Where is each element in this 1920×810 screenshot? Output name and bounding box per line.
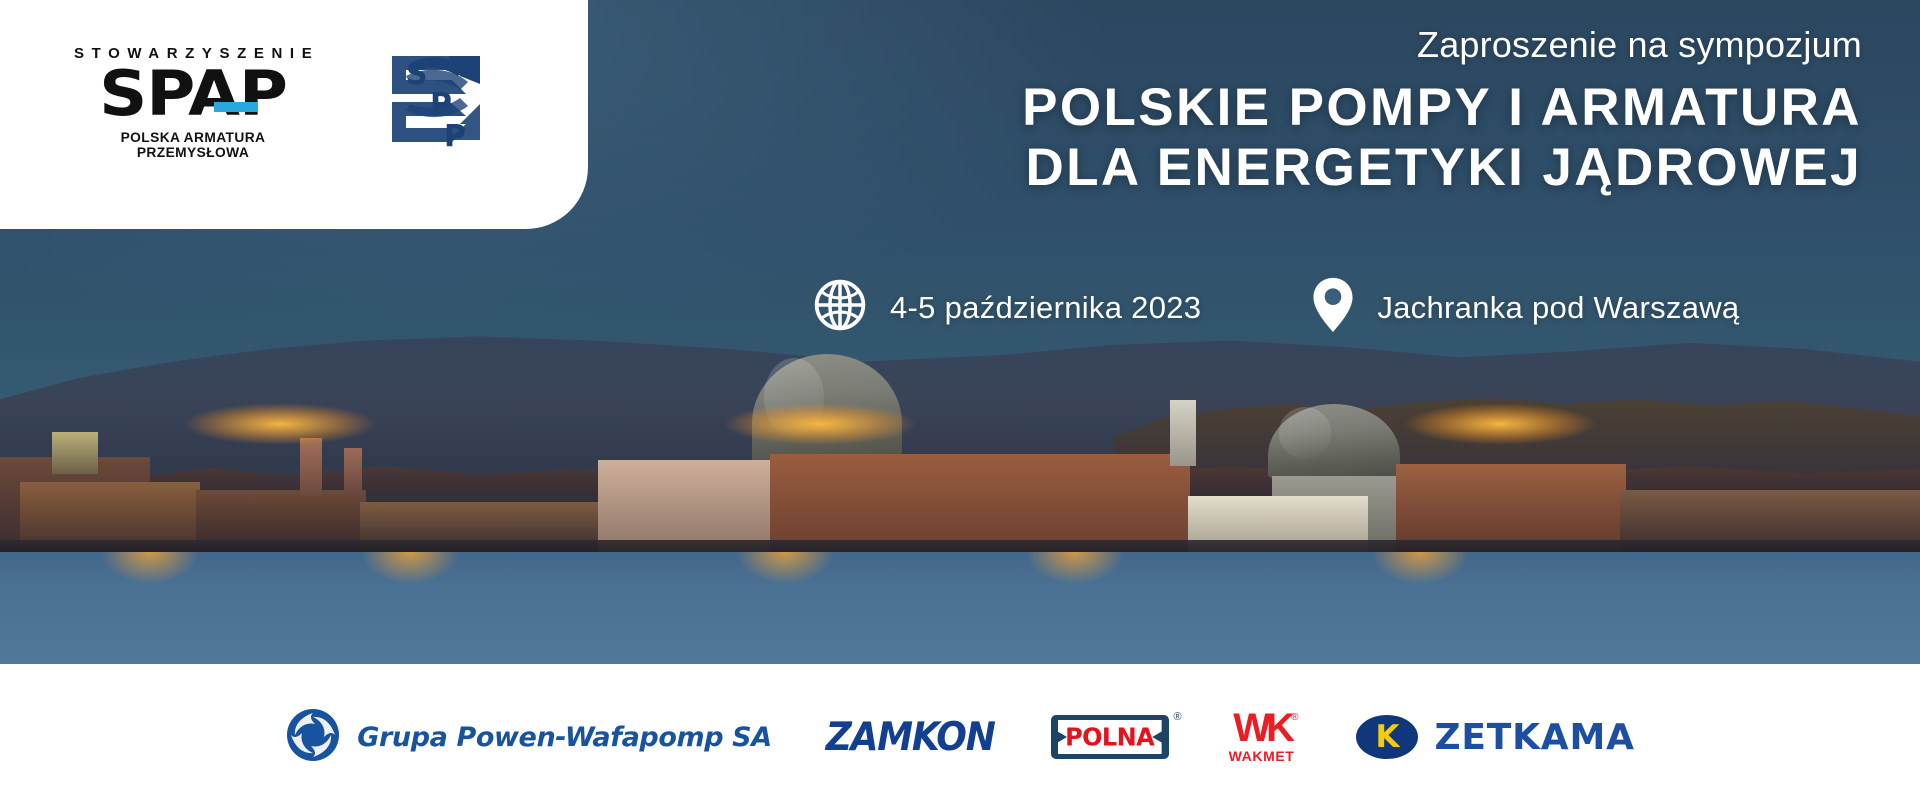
smokestack-b (344, 448, 362, 496)
map-pin-icon (1311, 276, 1355, 339)
sponsor-zetkama-label: ZETKAMA (1434, 717, 1634, 758)
sponsor-polna-label: POLNA (1065, 722, 1154, 751)
svg-text:S: S (406, 57, 428, 92)
spp-logo: S P P (386, 48, 486, 150)
wakmet-trademark: ® (1291, 712, 1298, 723)
spap-sub-line: POLSKA ARMATURA PRZEMYSŁOWA (66, 130, 321, 160)
water-reflection (1320, 552, 1520, 664)
svg-text:P: P (444, 119, 466, 150)
brick-turbine-hall (770, 454, 1190, 552)
headline: POLSKIE POMPY I ARMATURA DLA ENERGETYKI … (1022, 78, 1862, 199)
water-reflection (980, 552, 1170, 664)
plant-lighting-left (0, 388, 560, 448)
event-location-text: Jachranka pod Warszawą (1377, 290, 1739, 326)
right-brick-block (1396, 464, 1626, 552)
sponsor-powen-label: Grupa Powen-Wafapomp SA (357, 722, 771, 753)
headline-line-2: DLA ENERGETYKI JĄDROWEJ (1022, 138, 1862, 198)
sponsor-wakmet[interactable]: WK ® WAKMET (1229, 710, 1295, 765)
plant-lighting-center (560, 388, 1080, 448)
sponsor-strip: Grupa Powen-Wafapomp SA ZAMKON POLNA ® W… (0, 664, 1920, 810)
zetkama-badge-letter: K (1375, 722, 1399, 753)
headline-line-1: POLSKIE POMPY I ARMATURA (1022, 78, 1862, 138)
spap-logo: STOWARZYSZENIE SPAP POLSKA ARMATURA PRZE… (68, 46, 318, 160)
spap-accent-bar (214, 102, 258, 112)
water-reflection (330, 552, 490, 664)
event-meta-row: 4-5 października 2023 Jachranka pod Wars… (812, 276, 1739, 339)
kicker-text: Zaproszenie na sympozjum (1022, 24, 1862, 66)
sponsor-zamkon-label: ZAMKON (826, 715, 995, 759)
water-reflection (700, 552, 870, 664)
river-water (0, 552, 1920, 664)
sponsor-zetkama[interactable]: K ZETKAMA (1356, 715, 1634, 759)
nuclear-power-plant (0, 352, 1920, 552)
headline-block: Zaproszenie na sympozjum POLSKIE POMPY I… (1022, 24, 1862, 199)
plant-lighting-right (1080, 388, 1920, 448)
sponsor-polna[interactable]: POLNA ® (1051, 715, 1169, 759)
event-date-text: 4-5 października 2023 (890, 290, 1201, 326)
spap-wordmark-wrap: SPAP (68, 65, 318, 123)
event-date: 4-5 października 2023 (812, 277, 1201, 338)
sponsor-zamkon[interactable]: ZAMKON (826, 717, 995, 758)
svg-text:P: P (430, 87, 452, 122)
sponsor-powen-wafapomp[interactable]: Grupa Powen-Wafapomp SA (285, 707, 771, 768)
spap-wordmark: SPAP (58, 65, 328, 123)
logo-panel: STOWARZYSZENIE SPAP POLSKA ARMATURA PRZE… (0, 0, 588, 229)
wakmet-mark: WK (1229, 710, 1295, 747)
globe-icon (812, 277, 868, 338)
sponsor-wakmet-label: WAKMET (1229, 748, 1295, 764)
impeller-swirl-icon (285, 707, 341, 768)
polna-frame: POLNA ® (1051, 715, 1169, 759)
event-location: Jachranka pod Warszawą (1311, 276, 1739, 339)
pale-hall (598, 460, 774, 552)
polna-trademark: ® (1174, 711, 1182, 723)
symposium-invitation-banner: Zaproszenie na sympozjum POLSKIE POMPY I… (0, 0, 1920, 810)
zetkama-badge-icon: K (1356, 715, 1418, 759)
water-reflection (60, 552, 240, 664)
